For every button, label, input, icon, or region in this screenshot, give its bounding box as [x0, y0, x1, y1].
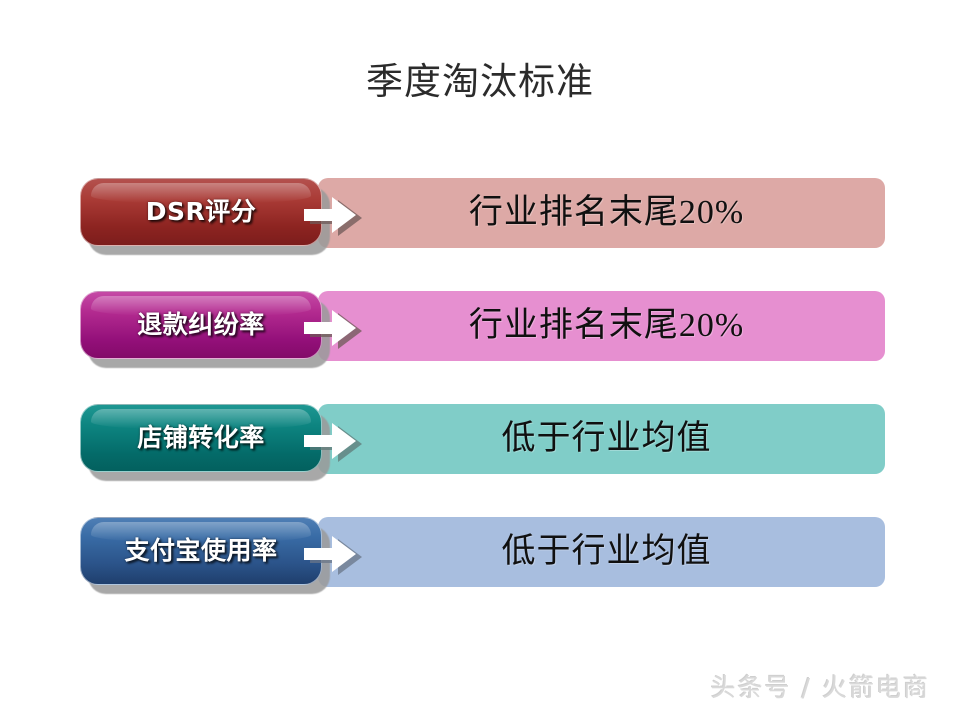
- criteria-label-text: 店铺转化率: [137, 423, 265, 453]
- criteria-label-pill[interactable]: 退款纠纷率: [80, 291, 322, 359]
- criteria-value-text: 低于行业均值: [492, 419, 712, 459]
- criteria-value-bar: 低于行业均值: [318, 404, 885, 474]
- watermark-text: 头条号 / 火箭电商: [711, 672, 930, 704]
- criteria-label-text: 支付宝使用率: [124, 536, 277, 566]
- right-arrow-icon: [298, 190, 368, 236]
- criteria-row[interactable]: 行业排名末尾20% DSR评分: [80, 178, 885, 248]
- criteria-value-text: 行业排名末尾20%: [459, 193, 744, 233]
- right-arrow-icon: [298, 416, 368, 462]
- criteria-value-bar: 行业排名末尾20%: [318, 178, 885, 248]
- criteria-label-pill[interactable]: 支付宝使用率: [80, 517, 322, 585]
- page-title: 季度淘汰标准: [0, 60, 960, 106]
- criteria-label-pill[interactable]: 店铺转化率: [80, 404, 322, 472]
- criteria-value-bar: 行业排名末尾20%: [318, 291, 885, 361]
- criteria-row[interactable]: 低于行业均值 店铺转化率: [80, 404, 885, 474]
- criteria-value-text: 低于行业均值: [492, 532, 712, 572]
- right-arrow-icon: [298, 529, 368, 575]
- right-arrow-icon: [298, 303, 368, 349]
- criteria-row[interactable]: 低于行业均值 支付宝使用率: [80, 517, 885, 587]
- criteria-label-pill[interactable]: DSR评分: [80, 178, 322, 246]
- criteria-list: 行业排名末尾20% DSR评分 行业排名末尾20% 退款纠纷率: [0, 178, 960, 588]
- criteria-label-text: 退款纠纷率: [137, 310, 265, 340]
- criteria-row[interactable]: 行业排名末尾20% 退款纠纷率: [80, 291, 885, 361]
- slide-canvas: 季度淘汰标准 行业排名末尾20% DSR评分 行业排名末尾20%: [0, 0, 960, 720]
- criteria-label-text: DSR评分: [146, 197, 257, 227]
- criteria-value-bar: 低于行业均值: [318, 517, 885, 587]
- criteria-value-text: 行业排名末尾20%: [459, 306, 744, 346]
